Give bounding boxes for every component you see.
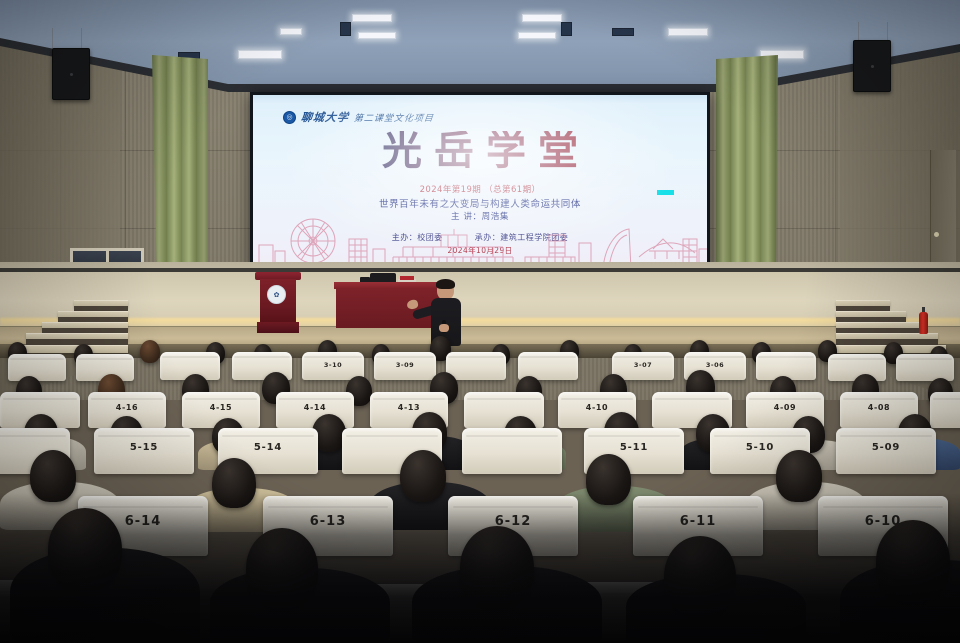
university-emblem-icon: ◎ <box>283 111 296 124</box>
lectern-podium: ✿ <box>258 272 298 334</box>
seat[interactable]: 5-09 <box>836 428 936 474</box>
door-knob-icon <box>934 232 939 237</box>
wall-speaker-right <box>853 40 891 92</box>
screen-top-strip <box>253 95 707 104</box>
ceiling-light <box>518 32 556 39</box>
seat[interactable] <box>930 392 960 428</box>
seat-label: 4-09 <box>746 403 824 412</box>
wall-speaker-left <box>52 48 90 100</box>
city-skyline-graphic <box>253 205 707 269</box>
red-folder <box>400 276 414 280</box>
emblem-glyph: ◎ <box>286 114 292 121</box>
ceiling-light <box>668 28 708 36</box>
seat[interactable]: 3-09 <box>374 352 436 380</box>
auditorium-photo: ◎ 聊城大学 第二课堂文化项目 光岳学堂 2024年第19期 （总第61期） 世… <box>0 0 960 643</box>
screen-header: ◎ 聊城大学 第二课堂文化项目 <box>283 109 434 125</box>
seat-label: 3-06 <box>684 361 746 369</box>
ceiling-light <box>352 14 392 22</box>
seat-label: 6-13 <box>263 514 393 529</box>
university-name: 聊城大学 <box>300 109 350 125</box>
ceiling-light <box>238 50 282 59</box>
project-name: 第二课堂文化项目 <box>353 111 434 124</box>
speaker-mount-wire <box>52 28 82 50</box>
seat-label: 5-14 <box>218 442 318 453</box>
seat-label: 6-11 <box>633 514 763 529</box>
seat-label: 3-10 <box>302 361 364 369</box>
seat-label: 5-09 <box>836 442 936 453</box>
lecturer-hair <box>436 279 455 289</box>
audience-area: 3-10 3-09 3-07 3-06 <box>0 330 960 643</box>
seat[interactable]: 5-15 <box>94 428 194 474</box>
seat-label: 4-16 <box>88 403 166 412</box>
ceiling-vent <box>561 22 572 36</box>
seat-label: 3-07 <box>612 361 674 369</box>
seat-label: 4-13 <box>370 403 448 412</box>
seat-label: 4-14 <box>276 403 354 412</box>
seat[interactable] <box>446 352 506 380</box>
university-seal-icon: ✿ <box>267 285 286 304</box>
projection-screen: ◎ 聊城大学 第二课堂文化项目 光岳学堂 2024年第19期 （总第61期） 世… <box>253 95 707 269</box>
seat-label: 4-08 <box>840 403 918 412</box>
seat-label: 6-12 <box>448 514 578 529</box>
seat[interactable] <box>462 428 562 474</box>
ceiling-light <box>358 32 396 39</box>
seat[interactable]: 3-07 <box>612 352 674 380</box>
ceiling-light <box>280 28 302 35</box>
seat-label: 3-09 <box>374 361 436 369</box>
seat[interactable] <box>8 354 66 381</box>
podium-seal-glyph: ✿ <box>274 291 280 299</box>
seat-label: 5-11 <box>584 442 684 453</box>
seat-label: 4-10 <box>558 403 636 412</box>
ceiling-vent <box>340 22 351 36</box>
seat[interactable] <box>896 354 954 381</box>
lecture-series-title: 光岳学堂 <box>253 131 707 171</box>
seat-label: 5-15 <box>94 442 194 453</box>
projection-screen-frame: ◎ 聊城大学 第二课堂文化项目 光岳学堂 2024年第19期 （总第61期） 世… <box>250 92 710 272</box>
ceiling-vent <box>612 28 634 36</box>
issue-number: 2024年第19期 （总第61期） <box>253 183 707 195</box>
accent-bar <box>657 190 674 195</box>
ceiling-light <box>522 14 562 22</box>
seat-label: 4-15 <box>182 403 260 412</box>
